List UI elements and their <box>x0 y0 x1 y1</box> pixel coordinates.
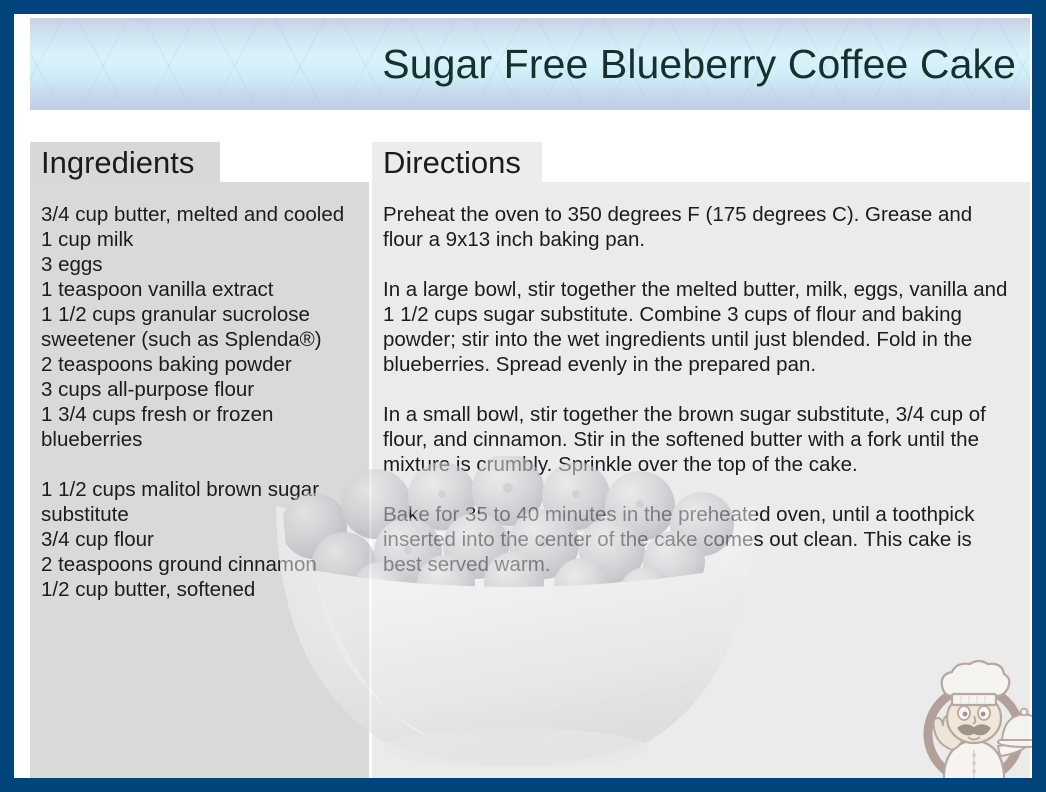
ingredient-item: 3 eggs <box>41 252 361 277</box>
recipe-card: Sugar Free Blueberry Coffee Cake Ingredi… <box>0 0 1046 792</box>
page-title: Sugar Free Blueberry Coffee Cake <box>382 44 1030 85</box>
ingredient-item: 1 1/2 cups granular sucrolose <box>41 302 361 327</box>
ingredient-item: 2 teaspoons baking powder <box>41 352 361 377</box>
title-banner: Sugar Free Blueberry Coffee Cake <box>30 18 1030 110</box>
direction-step: In a large bowl, stir together the melte… <box>383 277 1016 377</box>
direction-step: Preheat the oven to 350 degrees F (175 d… <box>383 202 1016 252</box>
directions-header-tab: Directions <box>372 142 542 182</box>
direction-step: In a small bowl, stir together the brown… <box>383 402 1016 477</box>
directions-steps: Preheat the oven to 350 degrees F (175 d… <box>383 202 1016 577</box>
ingredient-spacer <box>41 452 361 477</box>
ingredient-item: 1 3/4 cups fresh or frozen <box>41 402 361 427</box>
ingredient-item: 1 teaspoon vanilla extract <box>41 277 361 302</box>
ingredient-list: 3/4 cup butter, melted and cooled1 cup m… <box>41 202 361 602</box>
ingredients-header-tab: Ingredients <box>30 142 220 182</box>
ingredient-item: 1 1/2 cups malitol brown sugar <box>41 477 361 502</box>
direction-step: Bake for 35 to 40 minutes in the preheat… <box>383 502 1016 577</box>
ingredient-item: 3/4 cup flour <box>41 527 361 552</box>
ingredients-panel: 3/4 cup butter, melted and cooled1 cup m… <box>30 182 369 792</box>
ingredient-item: 2 teaspoons ground cinnamon <box>41 552 361 577</box>
directions-panel: Preheat the oven to 350 degrees F (175 d… <box>372 182 1030 792</box>
ingredient-item: substitute <box>41 502 361 527</box>
ingredient-item: 1 cup milk <box>41 227 361 252</box>
ingredients-heading: Ingredients <box>30 147 194 178</box>
ingredient-item: 1/2 cup butter, softened <box>41 577 361 602</box>
directions-heading: Directions <box>372 147 521 178</box>
ingredient-item: blueberries <box>41 427 361 452</box>
ingredient-item: 3 cups all-purpose flour <box>41 377 361 402</box>
ingredient-item: sweetener (such as Splenda®) <box>41 327 361 352</box>
ingredient-item: 3/4 cup butter, melted and cooled <box>41 202 361 227</box>
